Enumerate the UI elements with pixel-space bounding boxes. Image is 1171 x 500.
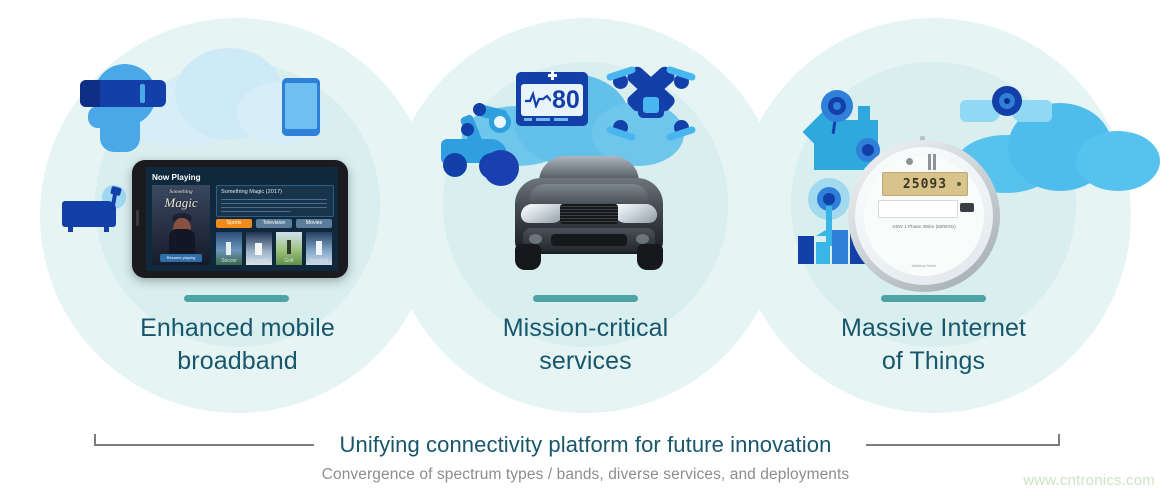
footer-headline: Unifying connectivity platform for futur… <box>0 432 1171 458</box>
connected-car <box>505 152 673 274</box>
panel-3-label: Massive Internet of Things <box>781 312 1086 378</box>
panel-3-label-line2: of Things <box>781 345 1086 378</box>
tab-movies[interactable]: Movies <box>296 219 332 228</box>
car-headlight-right <box>612 204 659 223</box>
tab-television[interactable]: Television <box>256 219 292 228</box>
panel-2-divider <box>533 295 638 302</box>
ecg-wave-icon <box>525 90 551 108</box>
thumbnail-caption: Baseball <box>246 258 272 264</box>
meter-brand-label: Watthour Meter <box>848 264 1000 268</box>
car-tire-right <box>637 244 663 270</box>
drone-icon <box>610 68 692 140</box>
panel-2-label: Mission-critical services <box>433 312 738 378</box>
phone-screen: Now Playing Something Magic Resume playi… <box>146 167 338 271</box>
panel-1-label-line1: Enhanced mobile <box>85 312 390 345</box>
footer-subtitle: Convergence of spectrum types / bands, d… <box>0 466 1171 484</box>
thumbnail-caption: Golf <box>276 258 302 264</box>
car-grille <box>560 204 618 224</box>
meter-spec-label: 240V 1 Phase 3Wire (60/60Hz) <box>848 224 1000 229</box>
thumbnail-soccer[interactable]: Soccer <box>216 232 242 265</box>
car-tire-left <box>515 244 541 270</box>
watermark: www.cntronics.com <box>1023 472 1155 489</box>
meter-lcd: 25093 <box>882 172 968 196</box>
thumbnail-football[interactable]: Football <box>306 232 332 265</box>
set-top-box-icon <box>62 185 128 233</box>
panel-3-divider <box>881 295 986 302</box>
program-info-panel: Something Magic (2017) <box>216 185 334 217</box>
panel-1-divider <box>184 295 289 302</box>
now-playing-title: Now Playing <box>152 173 201 182</box>
panel-3-label-line1: Massive Internet <box>781 312 1086 345</box>
tab-sports[interactable]: Sports <box>216 219 252 228</box>
thumbnail-caption: Football <box>306 258 332 264</box>
thumbnail-baseball[interactable]: Baseball <box>246 232 272 265</box>
smart-electricity-meter: 25093 240V 1 Phase 3Wire (60/60Hz) Watth… <box>848 140 1000 292</box>
program-info-heading: Something Magic (2017) <box>221 189 282 195</box>
thumbnail-caption: Soccer <box>216 258 242 264</box>
meter-reading: 25093 <box>883 177 967 192</box>
health-monitor-value: 80 <box>552 85 580 115</box>
smart-glasses-icon <box>960 86 1056 134</box>
infographic-canvas: Now Playing Something Magic Resume playi… <box>0 0 1171 500</box>
poster-resume-button[interactable]: Resume playing <box>160 254 202 262</box>
phone-home-button <box>136 210 139 226</box>
panel-1-label-line2: broadband <box>85 345 390 378</box>
tablet-icon <box>282 78 320 136</box>
panel-1-label: Enhanced mobile broadband <box>85 312 390 378</box>
vr-headset-head-icon <box>72 62 177 152</box>
poster-title-large: Magic <box>152 195 210 211</box>
health-monitor-icon: 80 <box>516 72 588 126</box>
movie-poster: Something Magic Resume playing <box>152 185 210 265</box>
panel-2-label-line1: Mission-critical <box>433 312 738 345</box>
smartphone-media-app: Now Playing Something Magic Resume playi… <box>132 160 348 278</box>
thumbnail-golf[interactable]: Golf <box>276 232 302 265</box>
panel-2-label-line2: services <box>433 345 738 378</box>
